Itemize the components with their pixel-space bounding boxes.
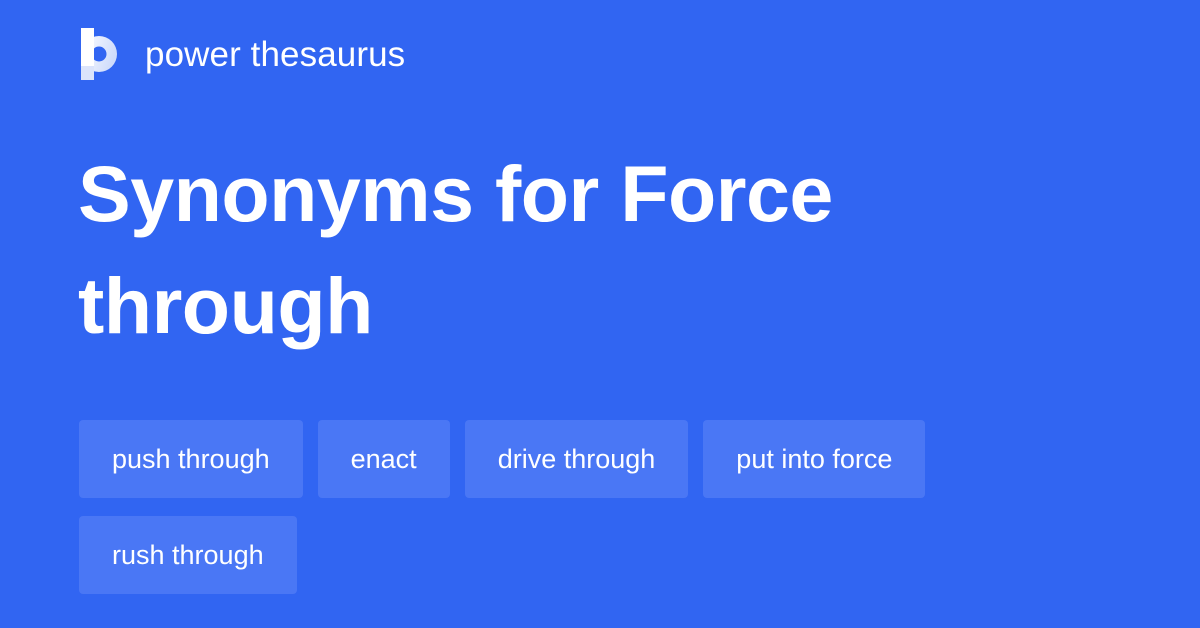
synonym-chip-list: push through enact drive through put int… — [79, 420, 1119, 594]
synonym-chip[interactable]: put into force — [703, 420, 925, 498]
synonym-chip[interactable]: push through — [79, 420, 303, 498]
brand-header[interactable]: power thesaurus — [79, 28, 405, 80]
synonyms-share-card: power thesaurus Synonyms for Force throu… — [0, 0, 1200, 628]
brand-name: power thesaurus — [145, 37, 405, 72]
synonym-chip[interactable]: drive through — [465, 420, 689, 498]
synonym-chip[interactable]: enact — [318, 420, 450, 498]
synonym-chip[interactable]: rush through — [79, 516, 297, 594]
page-title: Synonyms for Force through — [78, 138, 1118, 362]
power-thesaurus-b-logo-icon — [79, 28, 123, 80]
